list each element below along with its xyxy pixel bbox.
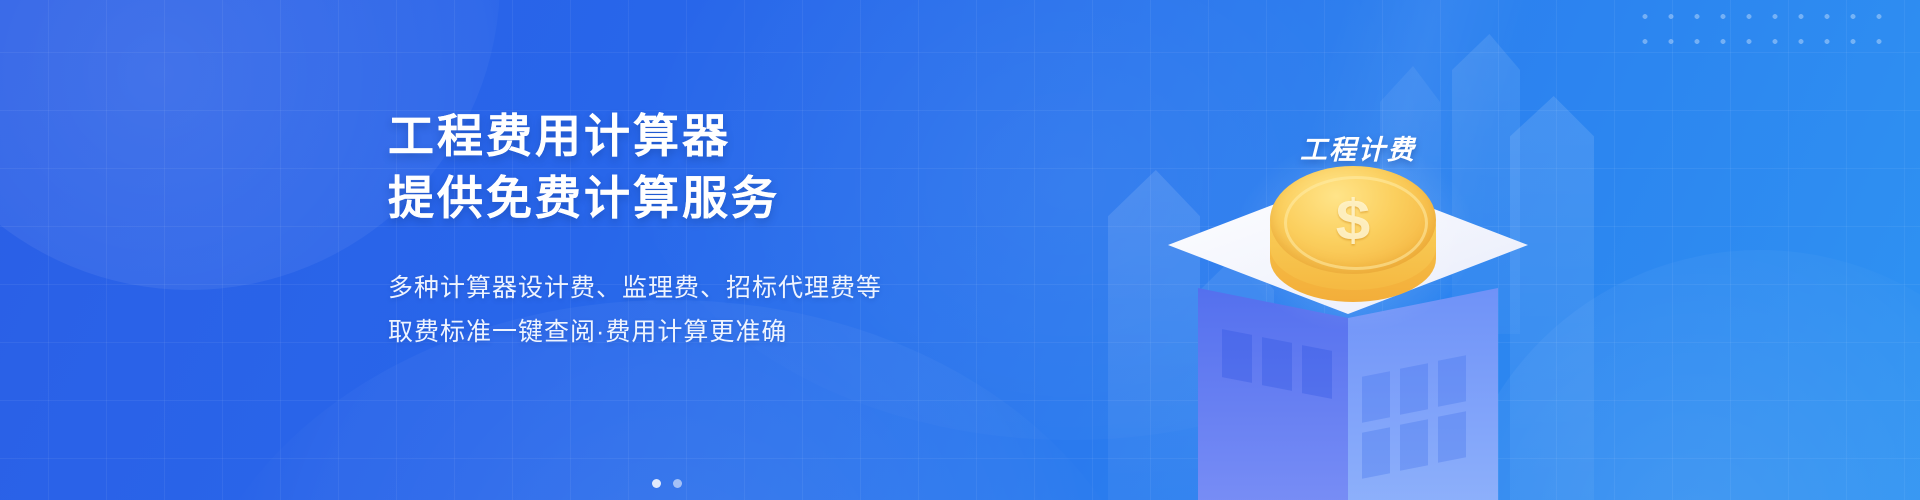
dot-matrix-pattern-icon (1632, 4, 1892, 50)
subtitle-line-1: 多种计算器设计费、监理费、招标代理费等 (388, 266, 1008, 310)
building-window (1222, 329, 1252, 383)
building-window (1302, 345, 1332, 399)
subtitle-line-2: 取费标准一键查阅·费用计算更准确 (388, 310, 1008, 354)
headline-line-1: 工程费用计算器 (388, 108, 1008, 164)
carousel-dot-1[interactable] (652, 479, 661, 488)
carousel-dot-2[interactable] (673, 479, 682, 488)
building-window (1400, 363, 1428, 414)
isometric-illustration: 工程计费 (1080, 0, 1640, 500)
building-window (1262, 337, 1292, 391)
gold-coin-icon: $ (1270, 166, 1436, 316)
subtitle-block: 多种计算器设计费、监理费、招标代理费等 取费标准一键查阅·费用计算更准确 (388, 266, 1008, 354)
building-window (1438, 411, 1466, 462)
building-window (1362, 427, 1390, 478)
promo-banner: 工程费用计算器 提供免费计算服务 多种计算器设计费、监理费、招标代理费等 取费标… (0, 0, 1920, 500)
headline-line-2: 提供免费计算服务 (388, 170, 1008, 226)
carousel-indicators[interactable] (652, 479, 682, 488)
dollar-symbol-icon: $ (1270, 170, 1436, 269)
building-window (1362, 371, 1390, 422)
banner-copy: 工程费用计算器 提供免费计算服务 多种计算器设计费、监理费、招标代理费等 取费标… (388, 108, 1008, 354)
building-window (1438, 355, 1466, 406)
building-window (1400, 419, 1428, 470)
